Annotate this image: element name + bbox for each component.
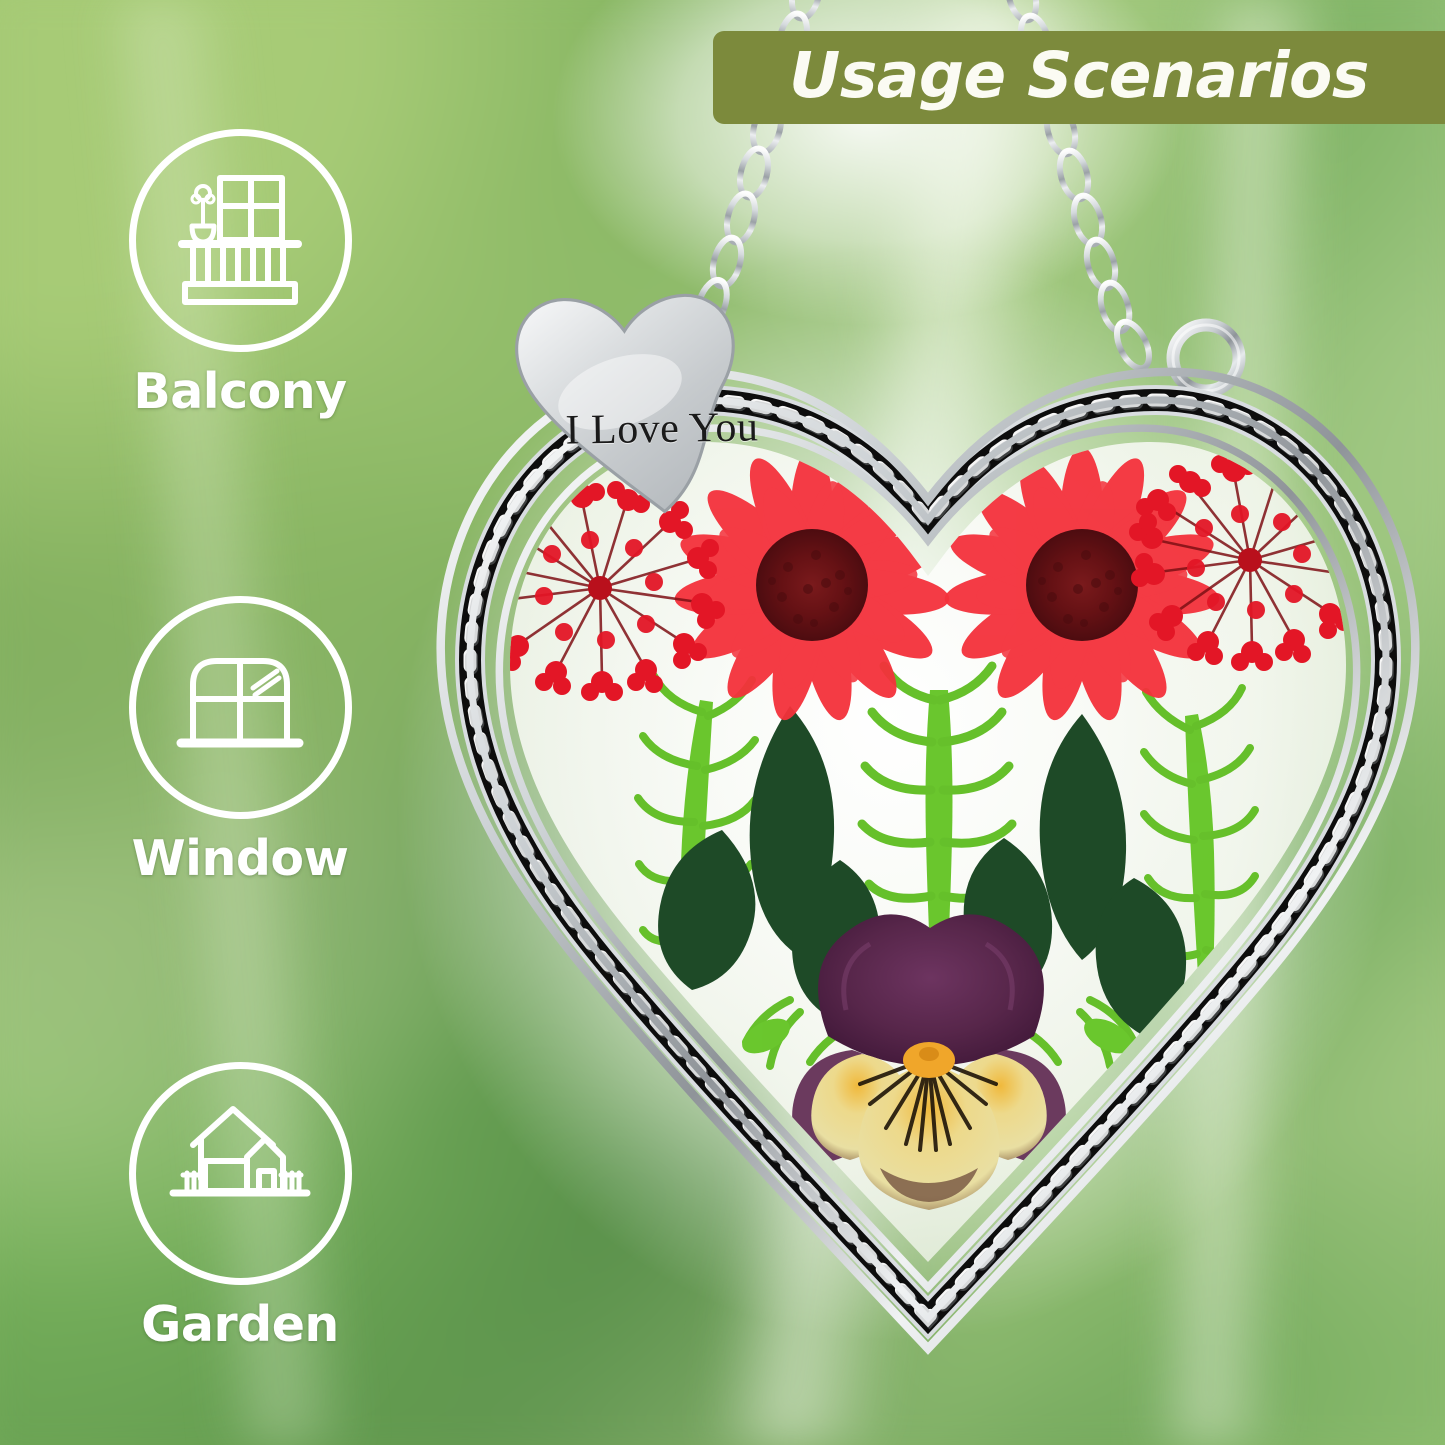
garden-icon <box>161 1095 319 1253</box>
feature-balcony-label: Balcony <box>104 363 376 420</box>
window-icon <box>165 633 315 783</box>
feature-balcony: Balcony <box>104 129 376 420</box>
balcony-icon <box>165 166 315 316</box>
charm-engraved-text: I Love You <box>548 403 777 455</box>
usage-scenarios-banner: Usage Scenarios <box>713 31 1445 124</box>
feature-garden: Garden <box>104 1062 376 1353</box>
feature-garden-label: Garden <box>104 1296 376 1353</box>
banner-title: Usage Scenarios <box>789 44 1369 111</box>
garden-icon-circle <box>129 1062 352 1285</box>
balcony-icon-circle <box>129 129 352 352</box>
feature-window: Window <box>104 596 376 887</box>
window-icon-circle <box>129 596 352 819</box>
feature-window-label: Window <box>104 830 376 887</box>
